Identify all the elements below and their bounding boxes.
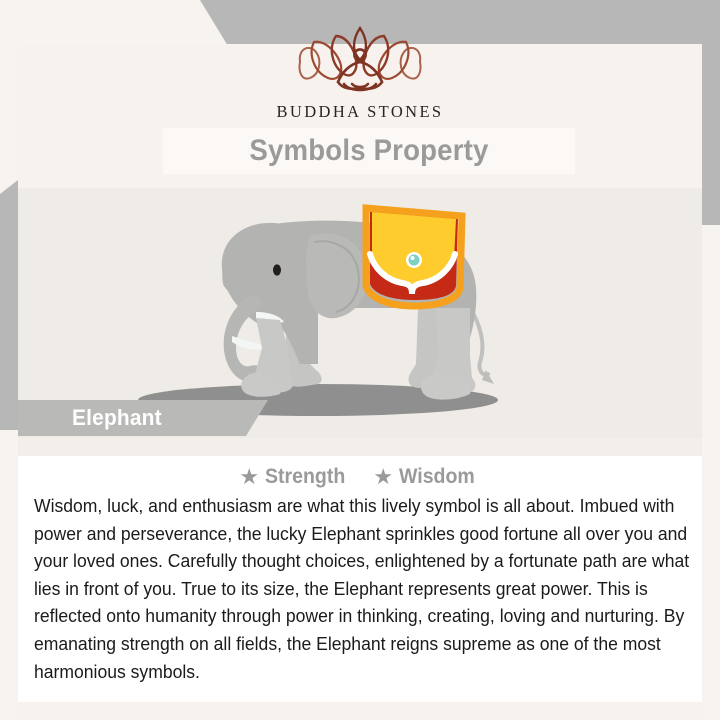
title-band: Symbols Property (163, 128, 575, 174)
attribute-label-wisdom: Wisdom (399, 465, 475, 489)
symbol-name-banner: Elephant (18, 400, 268, 436)
attributes-row: ★ Strength ★ Wisdom (18, 456, 702, 489)
symbols-property-infographic: BUDDHA STONES Symbols Property (0, 0, 720, 720)
description-card: ★ Strength ★ Wisdom Wisdom, luck, and en… (18, 456, 702, 702)
description-text: Wisdom, luck, and enthusiasm are what th… (34, 492, 703, 685)
attribute-strength: ★ Strength (239, 465, 351, 489)
illustration-panel-strip (18, 438, 702, 456)
symbol-name: Elephant (72, 405, 162, 431)
elephant-eye (273, 264, 281, 275)
lotus-meditation-icon (280, 22, 440, 98)
star-icon: ★ (239, 466, 259, 488)
blanket-gem-highlight (411, 256, 415, 260)
brand-name: BUDDHA STONES (0, 102, 720, 122)
blanket-gem-inner (409, 255, 420, 266)
star-icon: ★ (373, 466, 393, 488)
page-title: Symbols Property (249, 134, 488, 168)
attribute-wisdom: ★ Wisdom (373, 465, 480, 489)
attribute-label-strength: Strength (265, 465, 345, 489)
elephant-trunk (224, 295, 262, 382)
decor-left-grey-bar (0, 180, 18, 430)
brand-logo: BUDDHA STONES (0, 22, 720, 122)
bottom-cream-band (18, 702, 702, 720)
